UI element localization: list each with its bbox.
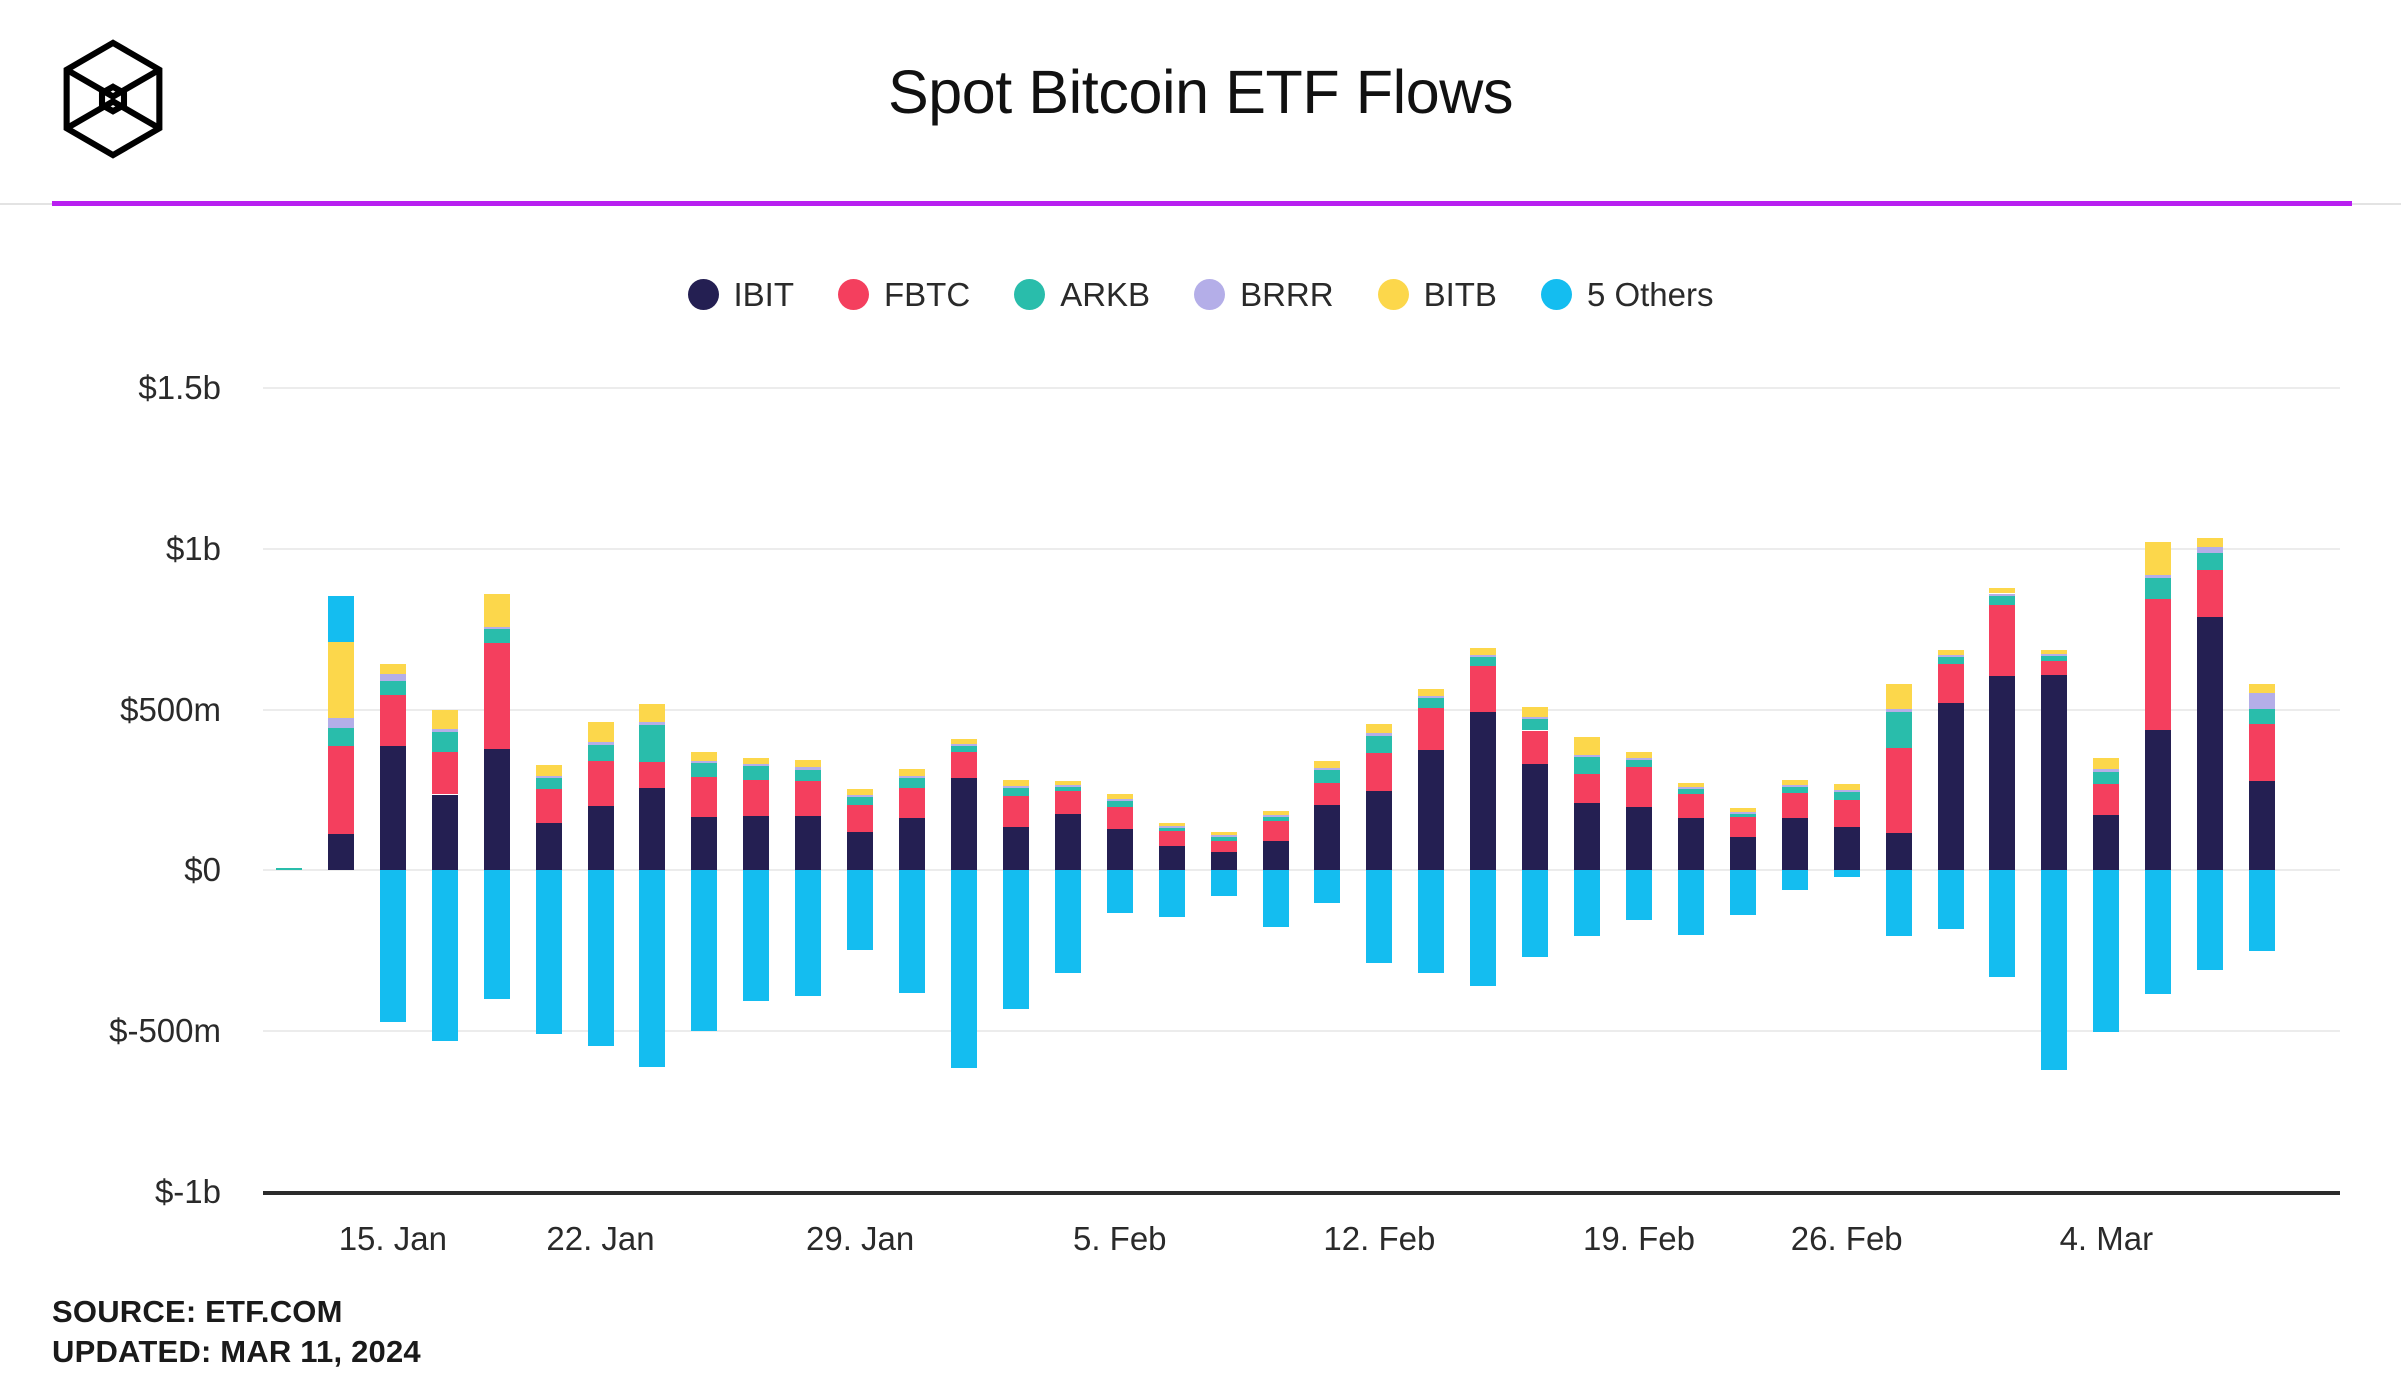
bar-segment-5-others [328, 596, 354, 642]
bar-segment-5-others [743, 870, 769, 1000]
bar-segment-ibit [1574, 803, 1600, 871]
bar-segment-5-others [484, 870, 510, 999]
bar-column[interactable] [1574, 0, 1600, 1400]
bar-column[interactable] [1366, 0, 1392, 1400]
bar-segment-bitb [1418, 689, 1444, 695]
bar-segment-bitb [1470, 648, 1496, 655]
bar-segment-brrr [588, 742, 614, 745]
bar-segment-bitb [1989, 588, 2015, 593]
bar-segment-fbtc [380, 695, 406, 746]
bar-segment-bitb [2249, 684, 2275, 693]
bar-column[interactable] [484, 0, 510, 1400]
bar-segment-brrr [1314, 768, 1340, 770]
bar-segment-ibit [1730, 837, 1756, 871]
bar-segment-bitb [1003, 780, 1029, 786]
bar-segment-brrr [2041, 654, 2067, 656]
bar-segment-bitb [484, 594, 510, 626]
y-axis-tick-label: $-500m [1, 1014, 221, 1047]
bar-segment-brrr [1678, 787, 1704, 789]
bar-segment-5-others [1938, 870, 1964, 929]
bar-segment-5-others [1055, 870, 1081, 973]
y-axis-tick-label: $0 [1, 853, 221, 886]
bar-segment-fbtc [432, 752, 458, 794]
bar-segment-bitb [795, 760, 821, 768]
bar-segment-5-others [795, 870, 821, 995]
chart-footer: SOURCE: ETF.COM UPDATED: MAR 11, 2024 [52, 1292, 421, 1371]
bar-segment-ibit [588, 806, 614, 870]
bar-segment-5-others [1003, 870, 1029, 1008]
bar-segment-arkb [1418, 698, 1444, 708]
bar-segment-bitb [1263, 811, 1289, 815]
bar-segment-brrr [1159, 826, 1185, 828]
bar-segment-arkb [1678, 788, 1704, 794]
bar-segment-brrr [1470, 655, 1496, 657]
y-axis-tick-label: $-1b [1, 1175, 221, 1208]
bar-segment-arkb [847, 796, 873, 805]
bar-segment-brrr [1782, 785, 1808, 787]
bar-segment-fbtc [1263, 821, 1289, 841]
y-axis-tick-label: $1.5b [1, 371, 221, 404]
bar-segment-5-others [1989, 870, 2015, 976]
bar-segment-brrr [1003, 786, 1029, 788]
bar-segment-ibit [2093, 815, 2119, 870]
bar-segment-arkb [1055, 786, 1081, 791]
bar-segment-fbtc [1989, 605, 2015, 676]
bar-segment-fbtc [639, 762, 665, 788]
bar-column[interactable] [536, 0, 562, 1400]
bar-segment-5-others [1834, 870, 1860, 877]
bar-segment-5-others [2145, 870, 2171, 994]
bar-segment-arkb [2145, 578, 2171, 599]
bar-segment-brrr [536, 776, 562, 778]
bar-column[interactable] [1938, 0, 1964, 1400]
bar-segment-fbtc [1418, 708, 1444, 750]
bar-segment-ibit [951, 778, 977, 870]
gridline-$1b [263, 548, 2340, 550]
bar-segment-brrr [1730, 812, 1756, 814]
bar-column[interactable] [1211, 0, 1237, 1400]
bar-segment-ibit [2041, 675, 2067, 870]
bar-column[interactable] [1314, 0, 1340, 1400]
bar-segment-5-others [847, 870, 873, 950]
bar-segment-5-others [1886, 870, 1912, 936]
bar-segment-brrr [1574, 755, 1600, 757]
bar-segment-ibit [1522, 764, 1548, 870]
bar-segment-brrr [2197, 547, 2223, 553]
bar-column[interactable] [639, 0, 665, 1400]
bar-segment-arkb [1574, 757, 1600, 774]
bar-segment-fbtc [1834, 800, 1860, 827]
bar-segment-arkb [1470, 657, 1496, 666]
bar-column[interactable] [1470, 0, 1496, 1400]
bar-segment-arkb [536, 778, 562, 789]
gridline-$500m [263, 709, 2340, 711]
bar-column[interactable] [1263, 0, 1289, 1400]
bar-segment-fbtc [328, 746, 354, 835]
bar-column[interactable] [2249, 0, 2275, 1400]
bar-segment-brrr [639, 722, 665, 725]
bar-segment-ibit [1782, 818, 1808, 871]
bar-segment-bitb [743, 758, 769, 765]
bar-segment-bitb [328, 642, 354, 718]
bar-segment-bitb [380, 664, 406, 674]
bar-segment-bitb [951, 739, 977, 744]
bar-segment-arkb [1003, 788, 1029, 796]
bar-column[interactable] [1003, 0, 1029, 1400]
x-axis-tick-label: 12. Feb [1323, 1222, 1435, 1255]
bar-segment-bitb [639, 704, 665, 722]
bar-segment-arkb [639, 725, 665, 763]
bar-segment-arkb [1886, 712, 1912, 747]
bar-column[interactable] [1418, 0, 1444, 1400]
bar-segment-5-others [1366, 870, 1392, 963]
bar-segment-fbtc [1522, 731, 1548, 765]
bar-segment-brrr [1886, 709, 1912, 712]
bar-segment-bitb [1366, 724, 1392, 734]
bar-segment-bitb [2041, 650, 2067, 654]
bar-segment-5-others [1211, 870, 1237, 896]
bar-segment-bitb [2197, 538, 2223, 548]
x-axis-tick-label: 5. Feb [1073, 1222, 1167, 1255]
bar-segment-5-others [1418, 870, 1444, 973]
bar-segment-fbtc [1055, 791, 1081, 814]
bar-segment-brrr [795, 767, 821, 769]
bar-segment-ibit [1834, 827, 1860, 870]
bar-segment-arkb [743, 766, 769, 780]
bar-segment-arkb [328, 728, 354, 746]
bar-segment-ibit [847, 832, 873, 870]
bar-segment-5-others [951, 870, 977, 1068]
bar-segment-ibit [536, 823, 562, 870]
bar-segment-5-others [1263, 870, 1289, 926]
bar-segment-brrr [1107, 799, 1133, 801]
bar-segment-ibit [1989, 676, 2015, 870]
bar-segment-ibit [1263, 841, 1289, 870]
bar-segment-fbtc [1782, 793, 1808, 818]
bar-segment-5-others [588, 870, 614, 1045]
bar-segment-arkb [1989, 596, 2015, 605]
bar-segment-fbtc [2041, 661, 2067, 675]
bar-segment-brrr [1834, 790, 1860, 792]
bar-column[interactable] [1678, 0, 1704, 1400]
bar-column[interactable] [328, 0, 354, 1400]
bar-segment-ibit [1003, 827, 1029, 871]
bar-segment-fbtc [1938, 664, 1964, 703]
bar-segment-arkb [380, 681, 406, 696]
bar-segment-brrr [743, 764, 769, 766]
bar-segment-ibit [1055, 814, 1081, 870]
bar-column[interactable] [1730, 0, 1756, 1400]
bar-segment-bitb [1730, 808, 1756, 812]
bar-segment-arkb [1366, 736, 1392, 753]
bar-column[interactable] [951, 0, 977, 1400]
bar-column[interactable] [2093, 0, 2119, 1400]
bar-segment-arkb [795, 770, 821, 782]
bar-segment-brrr [1263, 815, 1289, 817]
y-axis-tick-label: $1b [1, 532, 221, 565]
bar-segment-bitb [1574, 737, 1600, 755]
bar-segment-fbtc [1730, 817, 1756, 836]
bar-segment-brrr [1366, 733, 1392, 736]
bar-segment-brrr [328, 718, 354, 728]
bar-segment-bitb [588, 722, 614, 742]
bar-segment-fbtc [951, 752, 977, 778]
bar-segment-fbtc [2249, 724, 2275, 781]
bar-segment-fbtc [1159, 831, 1185, 846]
bar-segment-arkb [1938, 657, 1964, 664]
bar-column[interactable] [1989, 0, 2015, 1400]
bar-column[interactable] [276, 0, 302, 1400]
bar-segment-brrr [1055, 785, 1081, 787]
bar-segment-arkb [899, 778, 925, 788]
bar-segment-arkb [1522, 719, 1548, 731]
bar-segment-arkb [691, 763, 717, 777]
bar-segment-arkb [2041, 656, 2067, 661]
footer-source: SOURCE: ETF.COM [52, 1292, 421, 1332]
bar-segment-brrr [1522, 717, 1548, 719]
footer-updated: UPDATED: MAR 11, 2024 [52, 1332, 421, 1372]
bar-segment-ibit [795, 816, 821, 871]
bar-segment-ibit [2197, 617, 2223, 870]
bar-segment-ibit [1211, 852, 1237, 870]
bar-segment-fbtc [847, 805, 873, 833]
bar-segment-brrr [1211, 835, 1237, 837]
bar-segment-fbtc [1107, 807, 1133, 830]
bar-column[interactable] [847, 0, 873, 1400]
bar-segment-bitb [432, 710, 458, 729]
bar-segment-5-others [380, 870, 406, 1021]
bar-segment-brrr [951, 744, 977, 746]
bar-segment-bitb [1626, 752, 1652, 757]
x-axis-tick-label: 4. Mar [2060, 1222, 2154, 1255]
bar-segment-arkb [484, 629, 510, 643]
bar-segment-5-others [1678, 870, 1704, 934]
bar-segment-bitb [847, 789, 873, 795]
bar-segment-arkb [1107, 801, 1133, 807]
bar-segment-ibit [484, 749, 510, 871]
bar-segment-brrr [899, 776, 925, 778]
bar-segment-fbtc [1470, 666, 1496, 712]
bar-column[interactable] [743, 0, 769, 1400]
bar-segment-5-others [1730, 870, 1756, 915]
bar-segment-5-others [1314, 870, 1340, 902]
bar-segment-fbtc [588, 761, 614, 807]
bar-segment-bitb [1834, 784, 1860, 790]
bar-segment-fbtc [795, 781, 821, 815]
bar-segment-arkb [951, 746, 977, 752]
bar-segment-5-others [1159, 870, 1185, 917]
bar-segment-ibit [899, 818, 925, 870]
bar-segment-fbtc [1626, 767, 1652, 806]
bar-column[interactable] [2301, 0, 2327, 1400]
x-axis-tick-label: 15. Jan [339, 1222, 447, 1255]
bar-column[interactable] [899, 0, 925, 1400]
bar-segment-arkb [2197, 553, 2223, 570]
bar-column[interactable] [1107, 0, 1133, 1400]
bar-segment-brrr [691, 761, 717, 763]
bar-column[interactable] [380, 0, 406, 1400]
bar-segment-5-others [2197, 870, 2223, 970]
bar-segment-fbtc [2145, 599, 2171, 730]
bar-segment-brrr [2145, 575, 2171, 579]
bar-segment-fbtc [1366, 753, 1392, 791]
bar-segment-fbtc [2197, 570, 2223, 617]
gridline-$-500m [263, 1030, 2340, 1032]
bar-segment-5-others [1107, 870, 1133, 913]
bar-segment-brrr [1938, 655, 1964, 658]
x-axis-tick-label: 29. Jan [806, 1222, 914, 1255]
bar-segment-arkb [432, 732, 458, 753]
bar-segment-fbtc [1314, 783, 1340, 805]
bar-segment-ibit [380, 746, 406, 870]
bar-segment-bitb [1159, 823, 1185, 826]
bar-segment-bitb [1211, 832, 1237, 835]
bar-segment-fbtc [1886, 748, 1912, 834]
bar-segment-ibit [1626, 807, 1652, 871]
bar-segment-brrr [1418, 696, 1444, 698]
bar-segment-brrr [484, 627, 510, 629]
bar-segment-5-others [536, 870, 562, 1034]
bar-segment-5-others [691, 870, 717, 1031]
bar-segment-fbtc [1211, 841, 1237, 852]
bar-segment-ibit [328, 834, 354, 870]
bar-segment-arkb [2093, 772, 2119, 784]
bar-column[interactable] [1626, 0, 1652, 1400]
bar-segment-ibit [1470, 712, 1496, 871]
bar-segment-arkb [1834, 792, 1860, 800]
bar-column[interactable] [1834, 0, 1860, 1400]
bar-segment-ibit [1678, 818, 1704, 870]
bar-segment-bitb [1938, 650, 1964, 655]
bar-segment-ibit [1159, 846, 1185, 870]
bar-segment-ibit [639, 788, 665, 870]
bar-segment-arkb [1782, 786, 1808, 792]
bar-segment-ibit [1366, 791, 1392, 871]
bar-segment-5-others [2041, 870, 2067, 1070]
bar-segment-bitb [899, 769, 925, 776]
bar-segment-bitb [1314, 761, 1340, 768]
bar-column[interactable] [691, 0, 717, 1400]
bar-segment-arkb [276, 868, 302, 871]
bar-segment-brrr [1989, 594, 2015, 597]
bar-segment-5-others [2249, 870, 2275, 950]
bar-segment-5-others [2093, 870, 2119, 1031]
bar-segment-brrr [380, 674, 406, 681]
bar-segment-5-others [1782, 870, 1808, 890]
bar-column[interactable] [795, 0, 821, 1400]
bar-segment-5-others [899, 870, 925, 992]
y-axis-tick-label: $500m [1, 693, 221, 726]
bar-segment-5-others [639, 870, 665, 1066]
bar-segment-5-others [1626, 870, 1652, 919]
bar-segment-bitb [1678, 783, 1704, 787]
bar-segment-ibit [1107, 829, 1133, 870]
bar-segment-brrr [1626, 758, 1652, 760]
bar-segment-bitb [1782, 780, 1808, 785]
bar-column[interactable] [2197, 0, 2223, 1400]
bar-segment-ibit [1314, 805, 1340, 871]
bar-segment-bitb [1055, 781, 1081, 785]
bar-segment-5-others [432, 870, 458, 1040]
gridline-$1.5b [263, 387, 2340, 389]
bar-segment-arkb [1314, 770, 1340, 783]
bar-segment-fbtc [743, 780, 769, 815]
bar-segment-arkb [1263, 816, 1289, 821]
bar-segment-fbtc [899, 788, 925, 818]
bar-segment-ibit [691, 817, 717, 870]
bar-column[interactable] [1522, 0, 1548, 1400]
bar-segment-ibit [743, 816, 769, 871]
bar-segment-bitb [2145, 542, 2171, 575]
x-axis-tick-label: 19. Feb [1583, 1222, 1695, 1255]
bar-segment-5-others [1574, 870, 1600, 936]
bar-segment-bitb [691, 752, 717, 761]
bar-segment-fbtc [1678, 794, 1704, 818]
bar-column[interactable] [1159, 0, 1185, 1400]
bar-segment-brrr [432, 729, 458, 732]
bar-segment-arkb [588, 745, 614, 760]
bar-column[interactable] [1782, 0, 1808, 1400]
gridline-$-1b [263, 1191, 2340, 1195]
bar-segment-ibit [1418, 750, 1444, 870]
bar-segment-arkb [1626, 759, 1652, 767]
bar-segment-brrr [847, 795, 873, 797]
bar-segment-ibit [2145, 730, 2171, 871]
bar-segment-ibit [1886, 833, 1912, 870]
bar-segment-fbtc [1003, 796, 1029, 827]
bar-column[interactable] [1886, 0, 1912, 1400]
x-axis-tick-label: 22. Jan [546, 1222, 654, 1255]
bar-column[interactable] [2145, 0, 2171, 1400]
bar-segment-bitb [536, 765, 562, 776]
bar-segment-fbtc [691, 777, 717, 817]
bar-segment-bitb [1886, 684, 1912, 709]
bar-segment-bitb [1522, 707, 1548, 717]
bar-column[interactable] [432, 0, 458, 1400]
bar-segment-fbtc [1574, 774, 1600, 803]
bar-column[interactable] [2041, 0, 2067, 1400]
bar-segment-fbtc [536, 789, 562, 823]
bar-segment-bitb [2093, 758, 2119, 769]
bar-segment-brrr [2093, 769, 2119, 772]
bar-segment-ibit [2249, 781, 2275, 870]
bar-segment-ibit [1938, 703, 1964, 870]
bar-segment-5-others [1470, 870, 1496, 986]
bar-segment-bitb [1107, 794, 1133, 799]
bar-segment-5-others [1522, 870, 1548, 957]
bar-segment-brrr [2249, 693, 2275, 709]
chart-plot-area: $1.5b$1b$500m$0$-500m$-1b15. Jan22. Jan2… [0, 0, 2401, 1400]
bar-column[interactable] [1055, 0, 1081, 1400]
gridline-$0 [263, 869, 2340, 871]
bar-segment-ibit [432, 795, 458, 871]
bar-column[interactable] [588, 0, 614, 1400]
bar-segment-fbtc [2093, 784, 2119, 815]
bar-segment-fbtc [484, 643, 510, 748]
x-axis-tick-label: 26. Feb [1791, 1222, 1903, 1255]
bar-segment-arkb [2249, 709, 2275, 723]
